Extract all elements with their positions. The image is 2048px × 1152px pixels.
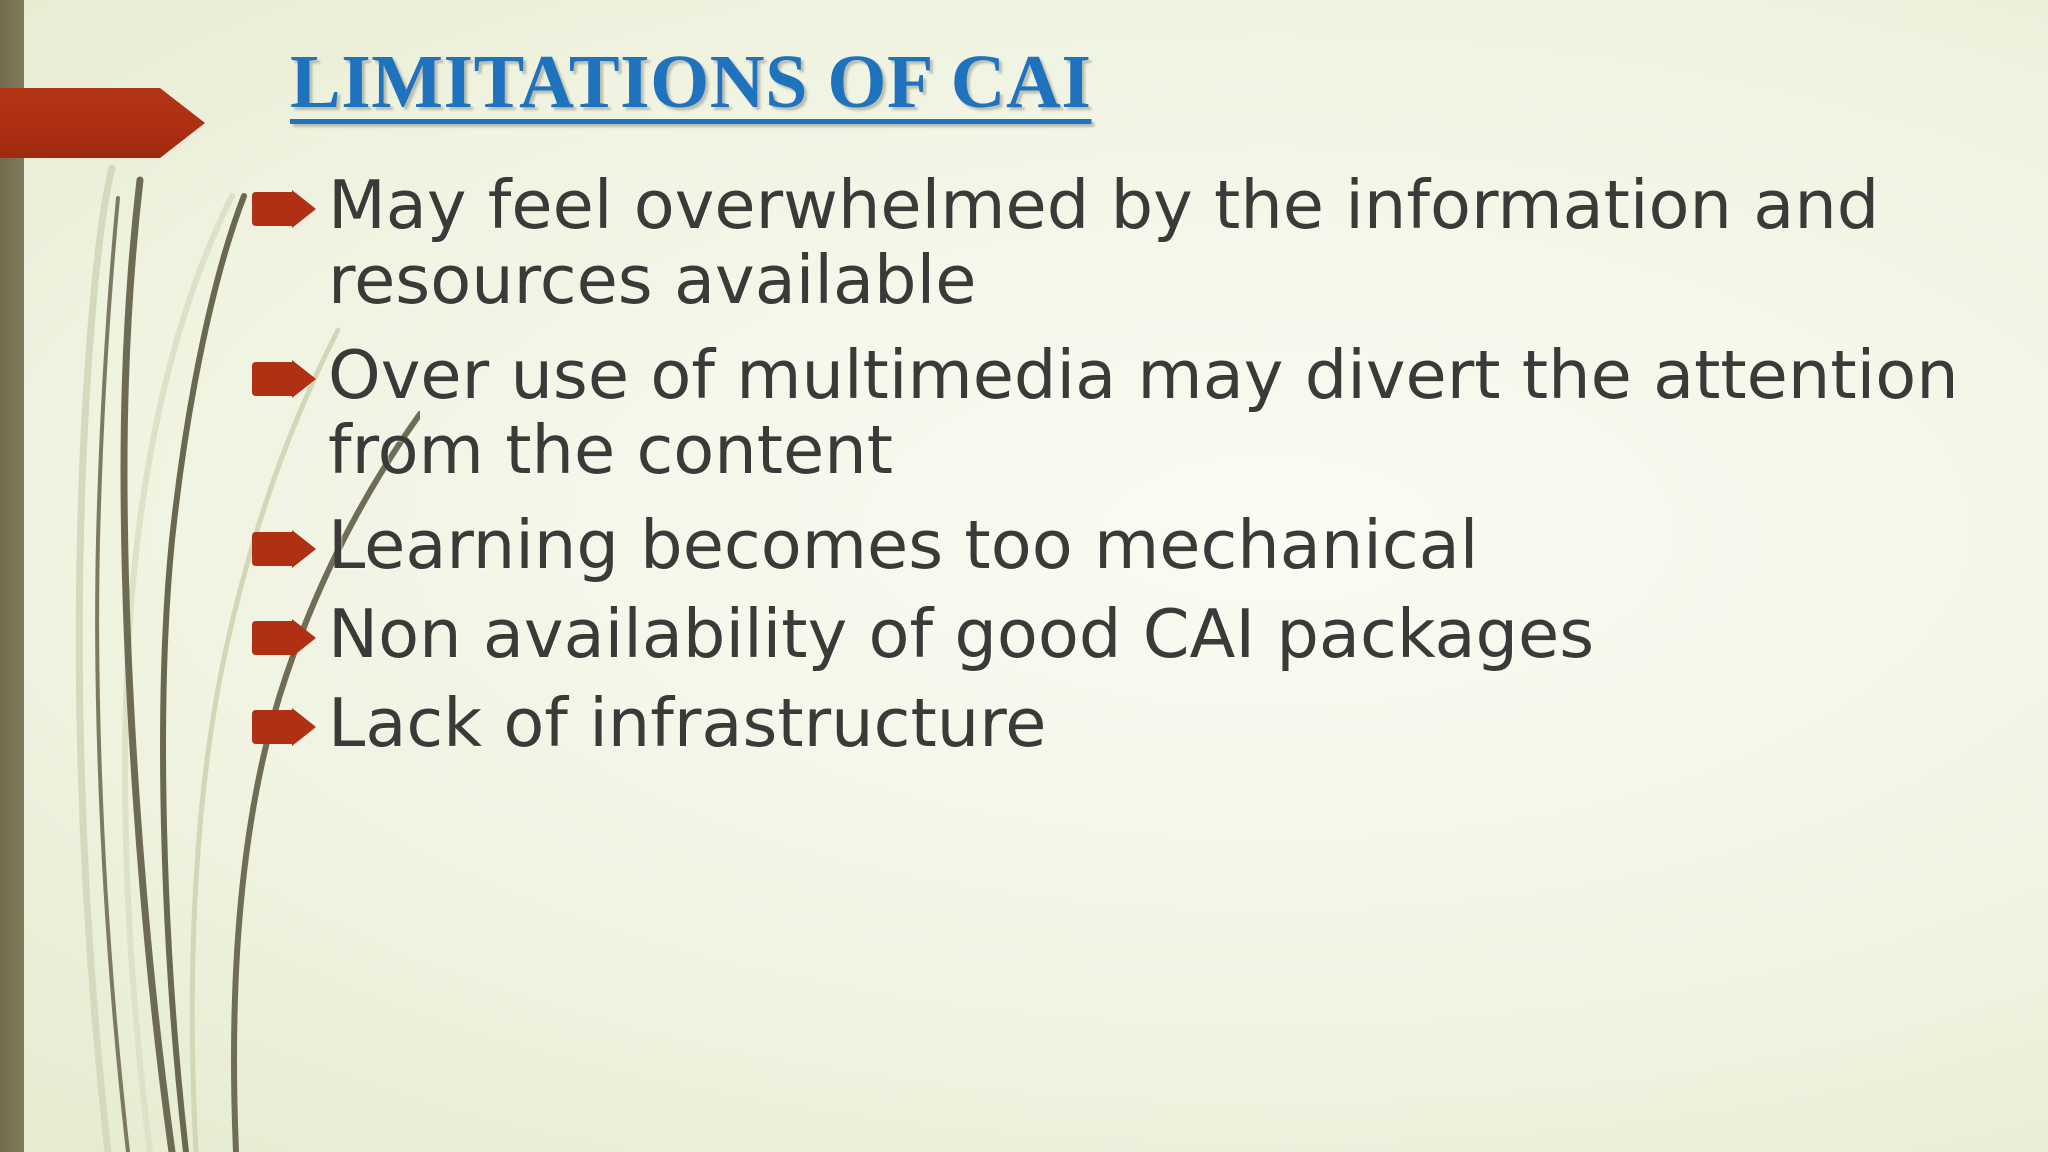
page-title: LIMITATIONS OF CAI bbox=[290, 44, 1990, 120]
presentation-slide: LIMITATIONS OF CAI May feel overwhelmed … bbox=[0, 0, 2048, 1152]
right-arrow-bullet-icon bbox=[250, 190, 318, 228]
right-arrow-bullet-icon bbox=[250, 530, 318, 568]
right-arrow-bullet-icon bbox=[250, 708, 318, 746]
left-olive-stripe bbox=[0, 0, 24, 1152]
list-item: May feel overwhelmed by the information … bbox=[250, 168, 2010, 318]
list-item: Over use of multimedia may divert the at… bbox=[250, 338, 2010, 488]
list-item-label: Learning becomes too mechanical bbox=[250, 508, 2010, 583]
bullet-list: May feel overwhelmed by the information … bbox=[250, 168, 2010, 775]
list-item: Lack of infrastructure bbox=[250, 686, 2010, 761]
right-arrow-bullet-icon bbox=[250, 619, 318, 657]
list-item-label: May feel overwhelmed by the information … bbox=[250, 168, 2010, 318]
list-item-label: Non availability of good CAI packages bbox=[250, 597, 2010, 672]
list-item-label: Lack of infrastructure bbox=[250, 686, 2010, 761]
list-item: Learning becomes too mechanical bbox=[250, 508, 2010, 583]
red-arrow-banner bbox=[0, 88, 205, 158]
list-item-label: Over use of multimedia may divert the at… bbox=[250, 338, 2010, 488]
right-arrow-bullet-icon bbox=[250, 360, 318, 398]
title-container: LIMITATIONS OF CAI bbox=[290, 44, 1990, 120]
list-item: Non availability of good CAI packages bbox=[250, 597, 2010, 672]
